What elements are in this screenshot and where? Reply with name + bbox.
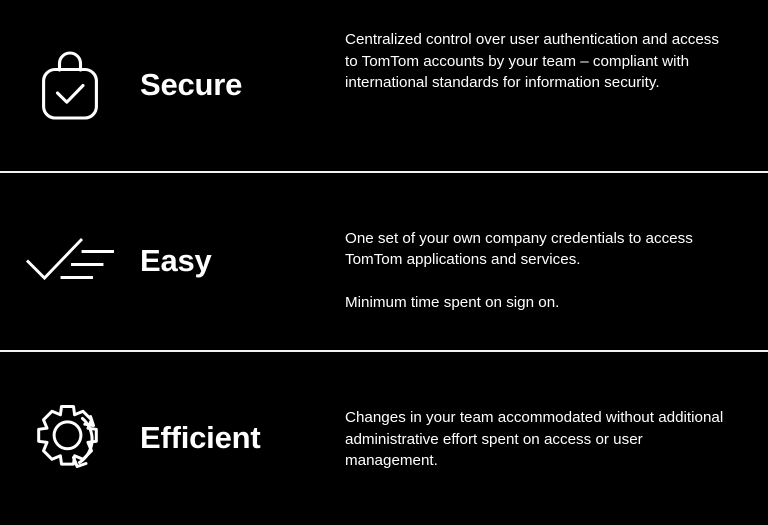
gear-refresh-icon xyxy=(32,400,108,478)
benefit-paragraph: Centralized control over user authentica… xyxy=(345,29,735,94)
benefit-paragraph: One set of your own company credentials … xyxy=(345,228,735,271)
benefits-panel: Secure Centralized control over user aut… xyxy=(0,0,768,525)
lock-check-icon xyxy=(38,48,102,122)
benefit-icon-cell-secure xyxy=(0,0,140,171)
benefit-description-secure: Centralized control over user authentica… xyxy=(345,0,768,171)
benefit-description-efficient: Changes in your team accommodated withou… xyxy=(345,352,768,525)
benefit-icon-cell-efficient xyxy=(0,352,140,525)
benefit-row-efficient: Efficient Changes in your team accommoda… xyxy=(0,352,768,525)
benefit-paragraph: Minimum time spent on sign on. xyxy=(345,292,735,314)
benefit-paragraph: Changes in your team accommodated withou… xyxy=(345,407,735,472)
benefit-icon-cell-easy xyxy=(0,173,140,351)
benefit-title: Secure xyxy=(140,69,242,102)
benefit-title-cell-efficient: Efficient xyxy=(140,352,345,525)
checklist-check-icon xyxy=(24,234,116,290)
benefit-title: Easy xyxy=(140,245,212,278)
benefit-title-cell-easy: Easy xyxy=(140,173,345,351)
benefit-title: Efficient xyxy=(140,422,261,455)
benefit-row-secure: Secure Centralized control over user aut… xyxy=(0,0,768,171)
benefit-row-easy: Easy One set of your own company credent… xyxy=(0,173,768,351)
benefit-title-cell-secure: Secure xyxy=(140,0,345,171)
benefit-description-easy: One set of your own company credentials … xyxy=(345,173,768,351)
